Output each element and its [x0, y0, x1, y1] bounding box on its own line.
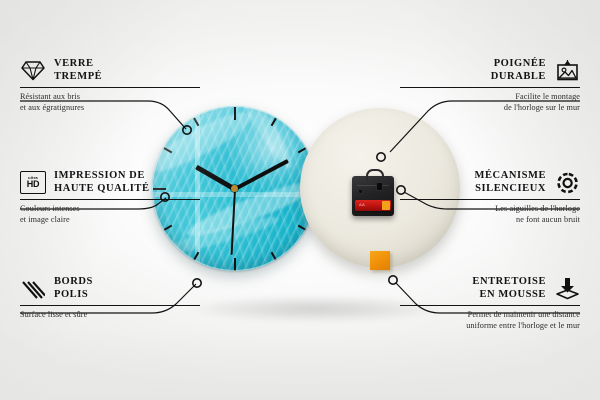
foam-spacer-icon [554, 277, 580, 301]
feature-divider [400, 305, 580, 306]
feature-impression-haute-qualite[interactable]: ultra HD IMPRESSION DE HAUTE QUALITÉ Cou… [20, 170, 200, 225]
feature-description: Surface lisse et sûre [20, 310, 200, 321]
feature-title: ENTRETOISE EN MOUSSE [472, 276, 546, 301]
feature-mecanisme-silencieux[interactable]: MÉCANISME SILENCIEUX Les aiguilles de l'… [400, 170, 580, 225]
feature-description: Permet de maintenir une distance uniform… [400, 310, 580, 331]
battery-label: AA [359, 202, 365, 207]
picture-hanger-icon [554, 59, 580, 83]
feature-entretoise-en-mousse[interactable]: ENTRETOISE EN MOUSSE Permet de maintenir… [400, 276, 580, 331]
feature-divider [20, 199, 200, 200]
feature-title: BORDS POLIS [54, 276, 93, 301]
feature-header: MÉCANISME SILENCIEUX [400, 170, 580, 195]
feature-title: IMPRESSION DE HAUTE QUALITÉ [54, 170, 150, 195]
diamond-icon [20, 59, 46, 83]
feature-bords-polis[interactable]: BORDS POLIS Surface lisse et sûre [20, 276, 200, 321]
gear-icon [554, 171, 580, 195]
feature-description: Résistant aux bris et aux égratignures [20, 92, 200, 113]
feature-description: Couleurs intenses et image claire [20, 204, 200, 225]
ultra-hd-icon-main-text: HD [27, 180, 40, 189]
movement-seam [357, 185, 389, 186]
movement-detail [376, 182, 383, 191]
feature-title: MÉCANISME SILENCIEUX [475, 170, 546, 195]
battery-positive-terminal [382, 201, 390, 210]
feature-divider [400, 199, 580, 200]
quartz-movement-box: AA [352, 176, 394, 216]
feature-description: Les aiguilles de l'horloge ne font aucun… [400, 204, 580, 225]
movement-detail [358, 189, 363, 194]
feature-divider [20, 305, 200, 306]
polished-edges-icon [20, 277, 46, 301]
feature-divider [20, 87, 200, 88]
hanger-loop-icon [366, 169, 384, 180]
feature-header: BORDS POLIS [20, 276, 200, 301]
feature-divider [400, 87, 580, 88]
feature-title: POIGNÉE DURABLE [491, 58, 546, 83]
feature-title: VERRE TREMPÉ [54, 58, 102, 83]
feature-verre-trempe[interactable]: VERRE TREMPÉ Résistant aux bris et aux é… [20, 58, 200, 113]
feature-header: ultra HD IMPRESSION DE HAUTE QUALITÉ [20, 170, 200, 195]
ultra-hd-icon: ultra HD [20, 171, 46, 195]
feature-description: Facilite le montage de l'horloge sur le … [400, 92, 580, 113]
infographic-canvas: AA [0, 0, 600, 400]
battery: AA [355, 200, 391, 211]
feature-header: ENTRETOISE EN MOUSSE [400, 276, 580, 301]
feature-header: POIGNÉE DURABLE [400, 58, 580, 83]
feature-header: VERRE TREMPÉ [20, 58, 200, 83]
foam-spacer [370, 251, 390, 270]
feature-poignee-durable[interactable]: POIGNÉE DURABLE Facilite le montage de l… [400, 58, 580, 113]
